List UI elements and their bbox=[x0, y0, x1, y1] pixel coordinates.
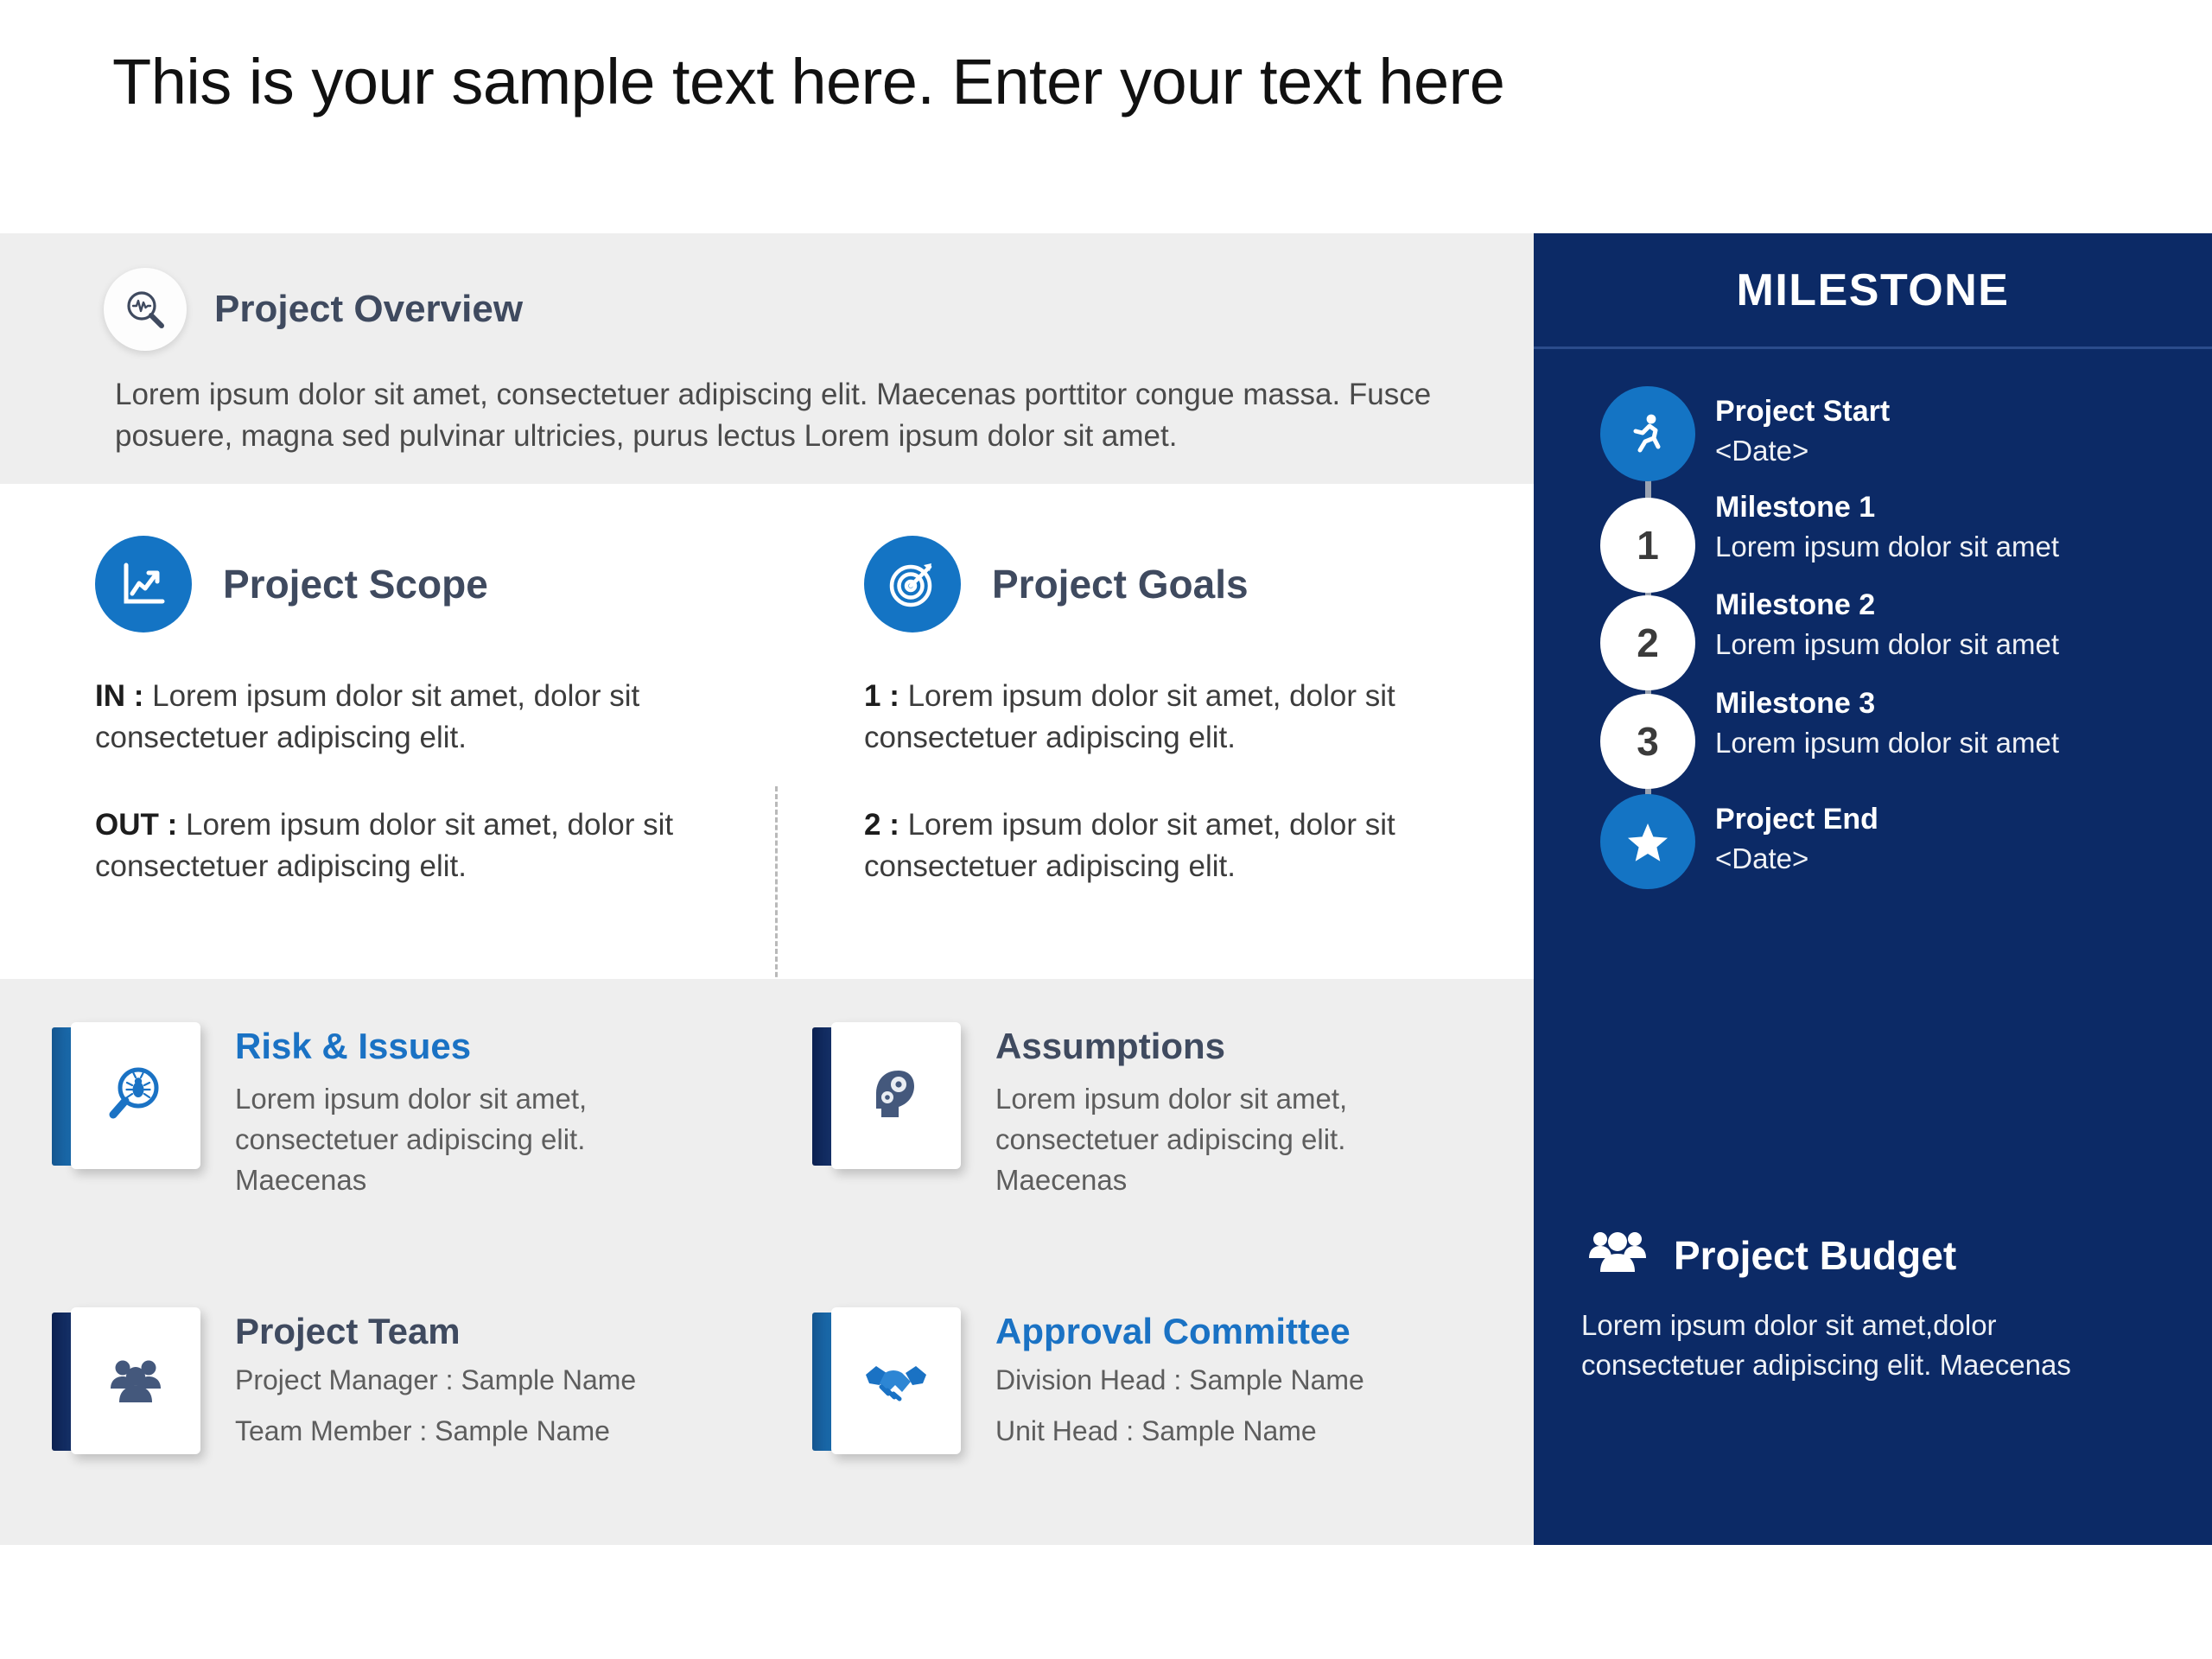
timeline-text-milestone-1: Milestone 1 Lorem ipsum dolor sit amet bbox=[1715, 491, 2147, 566]
scope-out-row: OUT : Lorem ipsum dolor sit amet, dolor … bbox=[95, 804, 752, 888]
milestone-marker-2: 2 bbox=[1600, 595, 1695, 690]
timeline-sub: Lorem ipsum dolor sit amet bbox=[1715, 626, 2147, 664]
goal-one-text: Lorem ipsum dolor sit amet, dolor sit co… bbox=[864, 679, 1395, 754]
risk-icon-card bbox=[52, 1022, 200, 1171]
scope-in-text: Lorem ipsum dolor sit amet, dolor sit co… bbox=[95, 679, 639, 754]
scope-in-label: IN : bbox=[95, 679, 143, 713]
timeline-sub: Lorem ipsum dolor sit amet bbox=[1715, 724, 2147, 762]
project-scope-title: Project Scope bbox=[223, 561, 488, 607]
timeline-title: Milestone 2 bbox=[1715, 588, 2147, 622]
team-text: Project Team Project Manager : Sample Na… bbox=[235, 1307, 636, 1447]
timeline-title: Project Start bbox=[1715, 395, 2147, 429]
milestone-panel: MILESTONE Project Start <Date> 1 Milesto bbox=[1534, 233, 2212, 1545]
project-team-card: Project Team Project Manager : Sample Na… bbox=[52, 1307, 734, 1456]
approval-title: Approval Committee bbox=[995, 1311, 1364, 1352]
approval-icon-card bbox=[812, 1307, 961, 1456]
star-icon bbox=[1600, 794, 1695, 889]
milestone-marker-3: 3 bbox=[1600, 694, 1695, 789]
project-goals-block: Project Goals 1 : Lorem ipsum dolor sit … bbox=[864, 536, 1521, 887]
project-budget-title: Project Budget bbox=[1674, 1232, 1956, 1279]
project-scope-header: Project Scope bbox=[95, 536, 752, 632]
assumptions-title: Assumptions bbox=[995, 1026, 1367, 1067]
growth-chart-icon bbox=[95, 536, 192, 632]
timeline-sub: <Date> bbox=[1715, 840, 2147, 878]
milestone-number: 3 bbox=[1637, 718, 1659, 765]
target-bullseye-icon bbox=[864, 536, 961, 632]
project-overview-header: Project Overview bbox=[104, 268, 523, 351]
timeline-text-project-start: Project Start <Date> bbox=[1715, 395, 2147, 470]
timeline-title: Milestone 3 bbox=[1715, 687, 2147, 721]
project-goals-header: Project Goals bbox=[864, 536, 1521, 632]
handshake-icon bbox=[831, 1307, 961, 1454]
timeline-text-milestone-3: Milestone 3 Lorem ipsum dolor sit amet bbox=[1715, 687, 2147, 762]
milestone-number: 1 bbox=[1637, 522, 1659, 569]
scope-out-text: Lorem ipsum dolor sit amet, dolor sit co… bbox=[95, 808, 673, 883]
project-budget-desc: Lorem ipsum dolor sit amet,dolor consect… bbox=[1581, 1306, 2143, 1385]
left-content-column: Project Overview Lorem ipsum dolor sit a… bbox=[0, 233, 1534, 1545]
risk-desc: Lorem ipsum dolor sit amet, consectetuer… bbox=[235, 1079, 607, 1201]
team-icon-card bbox=[52, 1307, 200, 1456]
milestone-number: 2 bbox=[1637, 620, 1659, 666]
project-budget-block: Project Budget Lorem ipsum dolor sit ame… bbox=[1534, 1227, 2212, 1385]
goal-two-row: 2 : Lorem ipsum dolor sit amet, dolor si… bbox=[864, 804, 1521, 888]
team-row-member: Team Member : Sample Name bbox=[235, 1415, 636, 1447]
project-overview-body: Lorem ipsum dolor sit amet, consectetuer… bbox=[115, 374, 1515, 458]
scope-in-row: IN : Lorem ipsum dolor sit amet, dolor s… bbox=[95, 676, 752, 760]
assumptions-desc: Lorem ipsum dolor sit amet, consectetuer… bbox=[995, 1079, 1367, 1201]
project-budget-header: Project Budget bbox=[1586, 1227, 2212, 1283]
milestone-marker-1: 1 bbox=[1600, 498, 1695, 593]
project-overview-title: Project Overview bbox=[214, 288, 523, 331]
approval-row-unit: Unit Head : Sample Name bbox=[995, 1415, 1364, 1447]
assumptions-text: Assumptions Lorem ipsum dolor sit amet, … bbox=[995, 1022, 1367, 1201]
risk-text: Risk & Issues Lorem ipsum dolor sit amet… bbox=[235, 1022, 607, 1201]
goal-one-label: 1 : bbox=[864, 679, 899, 713]
goal-two-label: 2 : bbox=[864, 808, 899, 842]
timeline-text-milestone-2: Milestone 2 Lorem ipsum dolor sit amet bbox=[1715, 588, 2147, 664]
people-group-icon bbox=[71, 1307, 200, 1454]
milestone-header-title: MILESTONE bbox=[1737, 264, 2010, 316]
details-section: Risk & Issues Lorem ipsum dolor sit amet… bbox=[0, 979, 1534, 1545]
timeline-title: Project End bbox=[1715, 803, 2147, 836]
milestone-header: MILESTONE bbox=[1534, 233, 2212, 349]
approval-text: Approval Committee Division Head : Sampl… bbox=[995, 1307, 1364, 1447]
project-goals-title: Project Goals bbox=[992, 561, 1249, 607]
timeline-sub: Lorem ipsum dolor sit amet bbox=[1715, 528, 2147, 566]
timeline-sub: <Date> bbox=[1715, 432, 2147, 470]
running-person-icon bbox=[1600, 386, 1695, 481]
project-overview-section: Project Overview Lorem ipsum dolor sit a… bbox=[0, 233, 1534, 484]
project-scope-block: Project Scope IN : Lorem ipsum dolor sit… bbox=[95, 536, 752, 887]
timeline-text-project-end: Project End <Date> bbox=[1715, 803, 2147, 878]
bug-magnifier-icon bbox=[71, 1022, 200, 1169]
goal-two-text: Lorem ipsum dolor sit amet, dolor sit co… bbox=[864, 808, 1395, 883]
scope-goals-section: Project Scope IN : Lorem ipsum dolor sit… bbox=[0, 484, 1534, 979]
scope-out-label: OUT : bbox=[95, 808, 177, 842]
team-row-manager: Project Manager : Sample Name bbox=[235, 1364, 636, 1396]
assumptions-icon-card bbox=[812, 1022, 961, 1171]
approval-committee-card: Approval Committee Division Head : Sampl… bbox=[812, 1307, 1495, 1456]
people-group-icon bbox=[1586, 1227, 1649, 1283]
assumptions-card: Assumptions Lorem ipsum dolor sit amet, … bbox=[812, 1022, 1495, 1201]
approval-row-division: Division Head : Sample Name bbox=[995, 1364, 1364, 1396]
goal-one-row: 1 : Lorem ipsum dolor sit amet, dolor si… bbox=[864, 676, 1521, 760]
team-title: Project Team bbox=[235, 1311, 636, 1352]
risk-title: Risk & Issues bbox=[235, 1026, 607, 1067]
milestone-timeline: Project Start <Date> 1 Milestone 1 Lorem… bbox=[1534, 346, 2212, 951]
head-gears-icon bbox=[831, 1022, 961, 1169]
magnifier-pulse-icon bbox=[104, 268, 187, 351]
timeline-title: Milestone 1 bbox=[1715, 491, 2147, 524]
risk-issues-card: Risk & Issues Lorem ipsum dolor sit amet… bbox=[52, 1022, 734, 1201]
page-title: This is your sample text here. Enter you… bbox=[112, 45, 1504, 118]
